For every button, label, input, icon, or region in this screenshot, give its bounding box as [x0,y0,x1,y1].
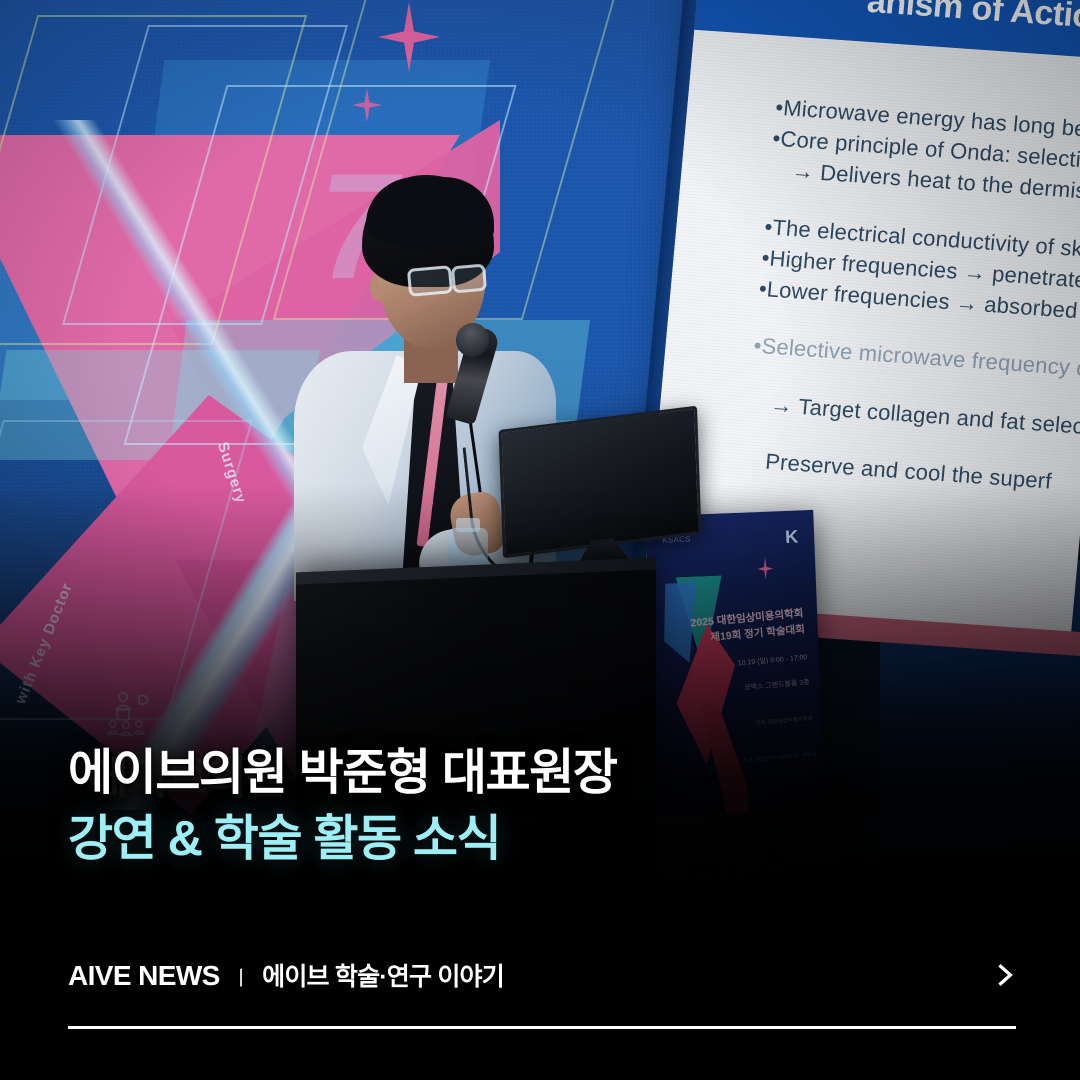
placard-name: 박준형 [681,816,866,930]
poster-footer-line1: 주최 대한임상미용의학회 [693,715,813,736]
footer-label-group: AIVE NEWS ㅣ 에이브 학술·연구 이야기 [68,957,504,993]
poster-meta-line1: 10.19 (일) 9:00 - 17:00 [687,652,808,675]
headline-line-2: 강연 & 학술 활동 소식 [68,814,617,866]
speaker-glasses-lens-left [407,265,453,297]
sparkle-star-icon [757,557,774,580]
news-card: 7 Surgery with Key Doctor 에이브의원 [0,0,1080,1080]
poster-footer-line2: 주관 대한임상미용의학회 사무국 [696,751,816,772]
chevron-right-icon[interactable] [992,962,1018,988]
headline-block: 에이브의원 박준형 대표원장 강연 & 학술 활동 소식 [68,748,617,866]
speaker-hair-front [366,177,494,247]
footer-bar: AIVE NEWS ㅣ 에이브 학술·연구 이야기 [0,930,1080,1080]
footer-brand: AIVE NEWS [68,960,220,992]
poster-text-block: 2025 대한임상미용의학회 제19회 정기 학술대회 10.19 (일) 9:… [683,605,817,771]
speaker-at-podium-icon [104,690,160,738]
speaker-glasses-lens-right [451,264,487,294]
footer-subtitle: 에이브 학술·연구 이야기 [262,957,504,993]
footer-row[interactable]: AIVE NEWS ㅣ 에이브 학술·연구 이야기 [68,957,1018,993]
headline-line-1: 에이브의원 박준형 대표원장 [68,748,617,800]
footer-separator: ㅣ [232,962,250,991]
name-placard: 박준형 [653,798,866,930]
poster-logo: K [785,526,799,547]
footer-divider [68,1026,1016,1029]
podium [296,557,656,930]
poster-meta-line2: 코엑스 그랜드볼룸 3층 [690,677,811,700]
conference-poster: K KSACS 2025 대한임상미용의학회 제19회 정기 학술대회 10.1… [645,510,824,816]
confidence-monitor [499,406,702,559]
